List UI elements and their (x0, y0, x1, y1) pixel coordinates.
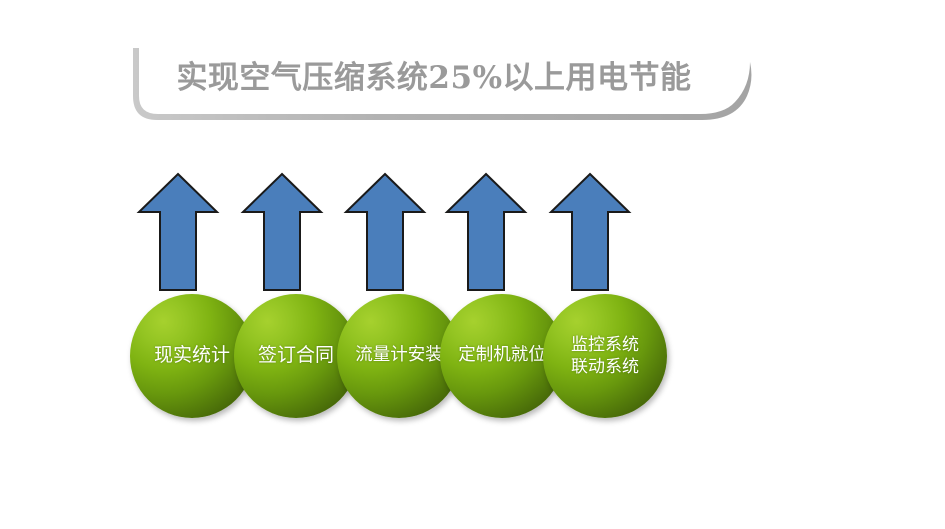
step-label-1: 现实统计 (148, 343, 236, 368)
up-arrow-icon-3 (343, 171, 427, 293)
step-label-2: 签订合同 (252, 343, 340, 368)
step-circle-5[interactable]: 监控系统 联动系统 (543, 294, 667, 418)
title-banner: 实现空气压缩系统25%以上用电节能 (130, 42, 770, 124)
step-label-4: 定制机就位 (452, 344, 552, 367)
up-arrow-icon-5 (548, 171, 632, 293)
up-arrow-icon-4 (444, 171, 528, 293)
up-arrow-icon-1 (136, 171, 220, 293)
step-label-3: 流量计安装 (349, 344, 449, 367)
step-label-5: 监控系统 联动系统 (565, 334, 645, 379)
page-title: 实现空气压缩系统25%以上用电节能 (130, 42, 738, 114)
slide-canvas: 实现空气压缩系统25%以上用电节能 现实统计 签订合同 流量计安装 定制机就位 … (0, 0, 945, 529)
up-arrow-icon-2 (240, 171, 324, 293)
